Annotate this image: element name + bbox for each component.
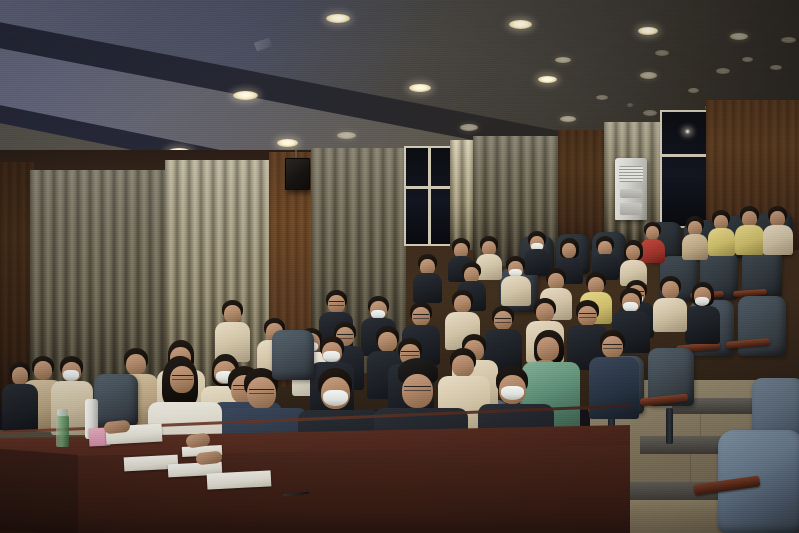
head (626, 245, 640, 260)
eyeglasses-icon (329, 301, 344, 306)
torso (589, 357, 639, 419)
head (646, 226, 659, 240)
torso (640, 239, 665, 263)
face-mask (323, 390, 348, 406)
ac-display-panel (620, 189, 642, 198)
ceiling-downlight (555, 57, 571, 63)
torso (653, 298, 687, 332)
water-bottle (56, 415, 69, 447)
ceiling-downlight (781, 37, 796, 43)
window-mullion-vertical (428, 148, 431, 244)
head (402, 374, 433, 408)
face-mask (695, 297, 709, 306)
ceiling-downlight (337, 132, 356, 139)
panel-table-front (0, 445, 630, 533)
torso (2, 384, 38, 432)
head (662, 281, 679, 299)
ceiling-downlight (560, 116, 576, 122)
ceiling-downlight (770, 65, 782, 70)
ceiling-downlight (688, 88, 699, 93)
face-mask (323, 351, 340, 362)
ceiling-downlight (640, 72, 657, 79)
paper-sheet (207, 470, 272, 489)
ceiling-vent-icon (254, 38, 272, 52)
right-window (660, 110, 708, 228)
ceiling-downlight (326, 14, 350, 23)
torso (685, 306, 720, 344)
ceiling-downlight (596, 95, 608, 100)
head (224, 305, 241, 323)
eyeglasses-icon (172, 375, 193, 380)
head (454, 295, 471, 313)
head (537, 337, 559, 361)
torso (413, 273, 442, 303)
panel-table-side (0, 448, 78, 533)
eyeglasses-icon (401, 351, 419, 356)
center-window (404, 146, 454, 246)
face-mask (501, 386, 524, 400)
ceiling-downlight (460, 124, 478, 131)
ceiling-downlight (742, 57, 753, 62)
eyeglasses-icon (404, 386, 431, 391)
ceiling-downlight (509, 20, 532, 29)
ceiling-downlight (655, 50, 669, 56)
window-mullion-horizontal (662, 154, 706, 157)
torso (501, 276, 531, 306)
window-mullion-horizontal (406, 186, 452, 189)
tile-seam (700, 414, 701, 436)
torso (682, 234, 708, 260)
ac-grille-icon (619, 166, 643, 182)
head (12, 367, 28, 385)
torso (763, 225, 793, 255)
empty-seat (272, 330, 314, 380)
seat-leg (666, 408, 673, 444)
eyeglasses-icon (603, 344, 622, 349)
ceiling-downlight (643, 110, 657, 116)
ceiling-downlight (538, 76, 557, 83)
exterior-light-icon (684, 129, 691, 134)
head (34, 361, 52, 380)
ceiling-downlight (730, 33, 748, 40)
ceiling-downlight (277, 139, 298, 147)
ceiling-downlight (233, 91, 258, 100)
eyeglasses-icon (579, 313, 596, 318)
torso (735, 225, 764, 255)
eyeglasses-icon (495, 318, 511, 323)
head (378, 332, 397, 352)
wall-speaker-icon (285, 158, 310, 190)
eyeglasses-icon (249, 389, 274, 394)
head (452, 355, 474, 377)
ac-lower-panel (620, 203, 642, 215)
air-conditioner-unit (615, 158, 647, 220)
auditorium-photo (0, 0, 799, 533)
eyeglasses-icon (413, 314, 429, 319)
face-mask (63, 370, 79, 381)
torso (708, 228, 735, 256)
head (562, 243, 576, 258)
ceiling-downlight (716, 68, 730, 74)
head (536, 303, 554, 322)
ceiling-downlight (626, 103, 634, 107)
empty-seat (94, 374, 138, 426)
ceiling-downlight (409, 84, 431, 92)
ceiling-downlight (638, 27, 658, 35)
head (126, 354, 146, 375)
water-bottle-cap (57, 409, 68, 416)
torso (524, 249, 550, 275)
tile-seam (690, 454, 691, 482)
